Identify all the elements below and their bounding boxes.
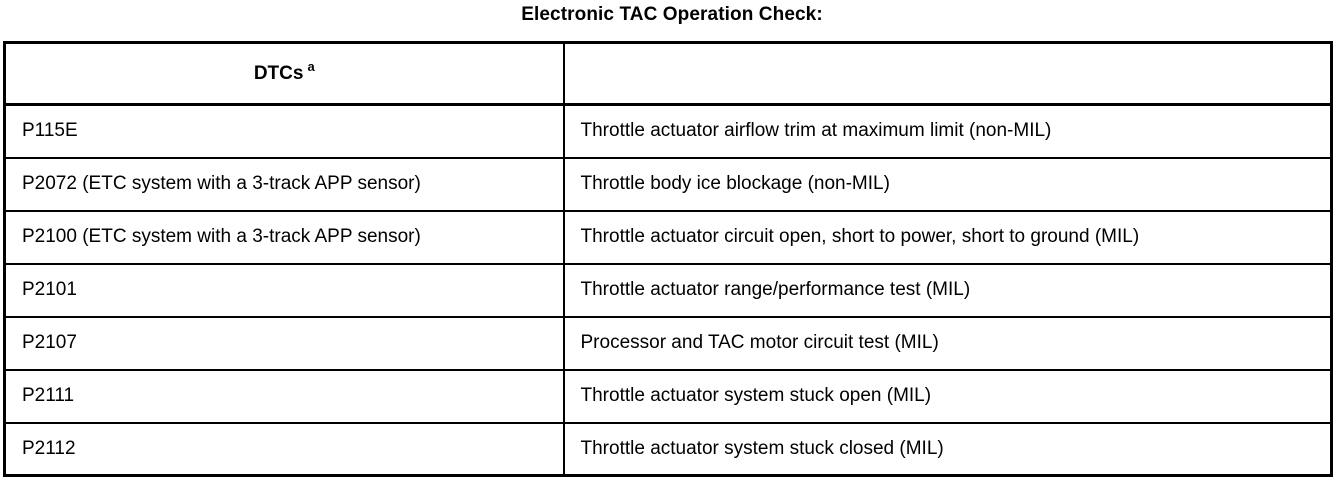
cell-dtc: P2107 [5, 317, 564, 370]
cell-description: Throttle actuator airflow trim at maximu… [564, 105, 1332, 158]
table-row: P2112 Throttle actuator system stuck clo… [5, 423, 1332, 476]
column-header-dtcs: DTCsa [5, 43, 564, 105]
cell-dtc: P2112 [5, 423, 564, 476]
cell-dtc: P115E [5, 105, 564, 158]
table-row: P2100 (ETC system with a 3-track APP sen… [5, 211, 1332, 264]
cell-dtc: P2101 [5, 264, 564, 317]
table-row: P2072 (ETC system with a 3-track APP sen… [5, 158, 1332, 211]
page-title: Electronic TAC Operation Check: [0, 0, 1344, 24]
table-row: P2107 Processor and TAC motor circuit te… [5, 317, 1332, 370]
cell-description: Throttle actuator range/performance test… [564, 264, 1332, 317]
table-row: P2101 Throttle actuator range/performanc… [5, 264, 1332, 317]
table-header-row: DTCsa [5, 43, 1332, 105]
table-header: DTCsa [5, 43, 1332, 105]
cell-description: Throttle actuator system stuck open (MIL… [564, 370, 1332, 423]
dtc-operation-check-table: DTCsa P115E Throttle actuator airflow tr… [3, 41, 1333, 477]
cell-description: Throttle body ice blockage (non-MIL) [564, 158, 1332, 211]
cell-description: Processor and TAC motor circuit test (MI… [564, 317, 1332, 370]
table-row: P115E Throttle actuator airflow trim at … [5, 105, 1332, 158]
cell-dtc: P2100 (ETC system with a 3-track APP sen… [5, 211, 564, 264]
table-row: P2111 Throttle actuator system stuck ope… [5, 370, 1332, 423]
page-root: Electronic TAC Operation Check: DTCsa P1… [0, 0, 1344, 482]
footnote-marker-a: a [307, 59, 314, 74]
cell-dtc: P2072 (ETC system with a 3-track APP sen… [5, 158, 564, 211]
cell-dtc: P2111 [5, 370, 564, 423]
cell-description: Throttle actuator system stuck closed (M… [564, 423, 1332, 476]
column-header-description [564, 43, 1332, 105]
table-body: P115E Throttle actuator airflow trim at … [5, 105, 1332, 476]
cell-description: Throttle actuator circuit open, short to… [564, 211, 1332, 264]
column-header-dtcs-label: DTCs [254, 63, 304, 84]
